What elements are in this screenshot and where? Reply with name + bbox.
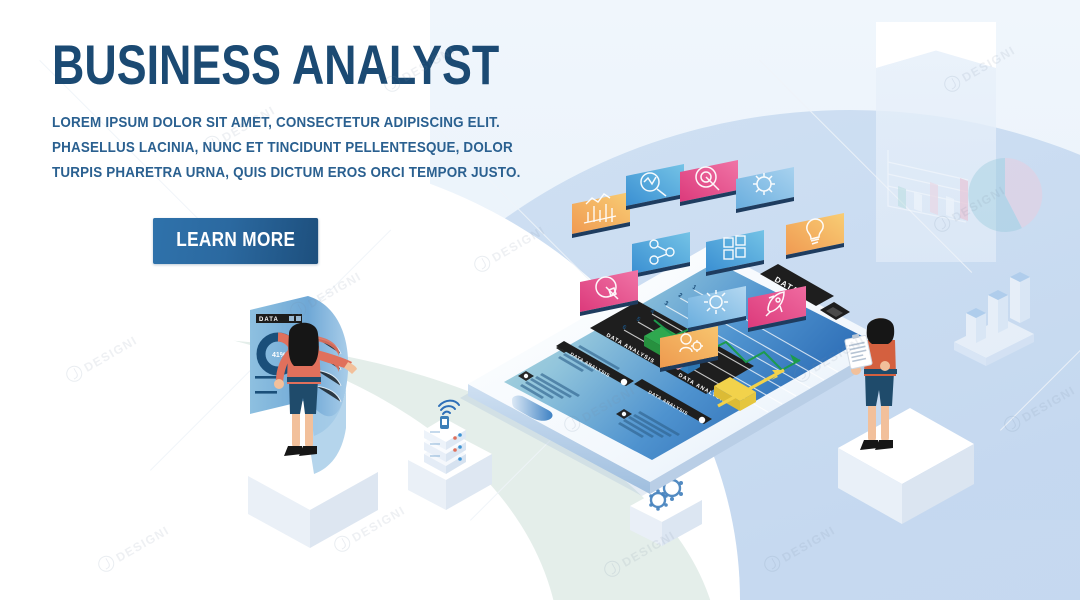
analyst-woman-right: [838, 310, 934, 462]
analyst-woman-left: [262, 314, 358, 470]
page-title: BUSINESS ANALYST: [52, 38, 372, 91]
card-chart-blue[interactable]: [702, 216, 782, 280]
background-iso-bars-decor: [938, 258, 1048, 368]
card-idea-orange[interactable]: [782, 199, 862, 263]
learn-more-button[interactable]: LEARN MORE: [153, 218, 319, 264]
paragraph-line-2: PHASELLUS LACINIA, NUNC ET TINCIDUNT PEL…: [52, 136, 420, 161]
background-pie-chart-decor: [960, 150, 1050, 240]
illustration-canvas: BUSINESS ANALYST LOREM IPSUM DOLOR SIT A…: [0, 0, 1080, 600]
paragraph-line-3: TURPIS PHARETRA URNA, QUIS DICTUM EROS O…: [52, 161, 420, 186]
card-gear-people-orange[interactable]: [656, 312, 736, 376]
card-rocket-pink[interactable]: [744, 272, 824, 336]
hero-copy: BUSINESS ANALYST LOREM IPSUM DOLOR SIT A…: [52, 38, 452, 186]
hero-paragraph: LOREM IPSUM DOLOR SIT AMET, CONSECTETUR …: [52, 111, 420, 185]
card-cursor-pink[interactable]: [576, 256, 656, 320]
paragraph-line-1: LOREM IPSUM DOLOR SIT AMET, CONSECTETUR …: [52, 111, 420, 136]
